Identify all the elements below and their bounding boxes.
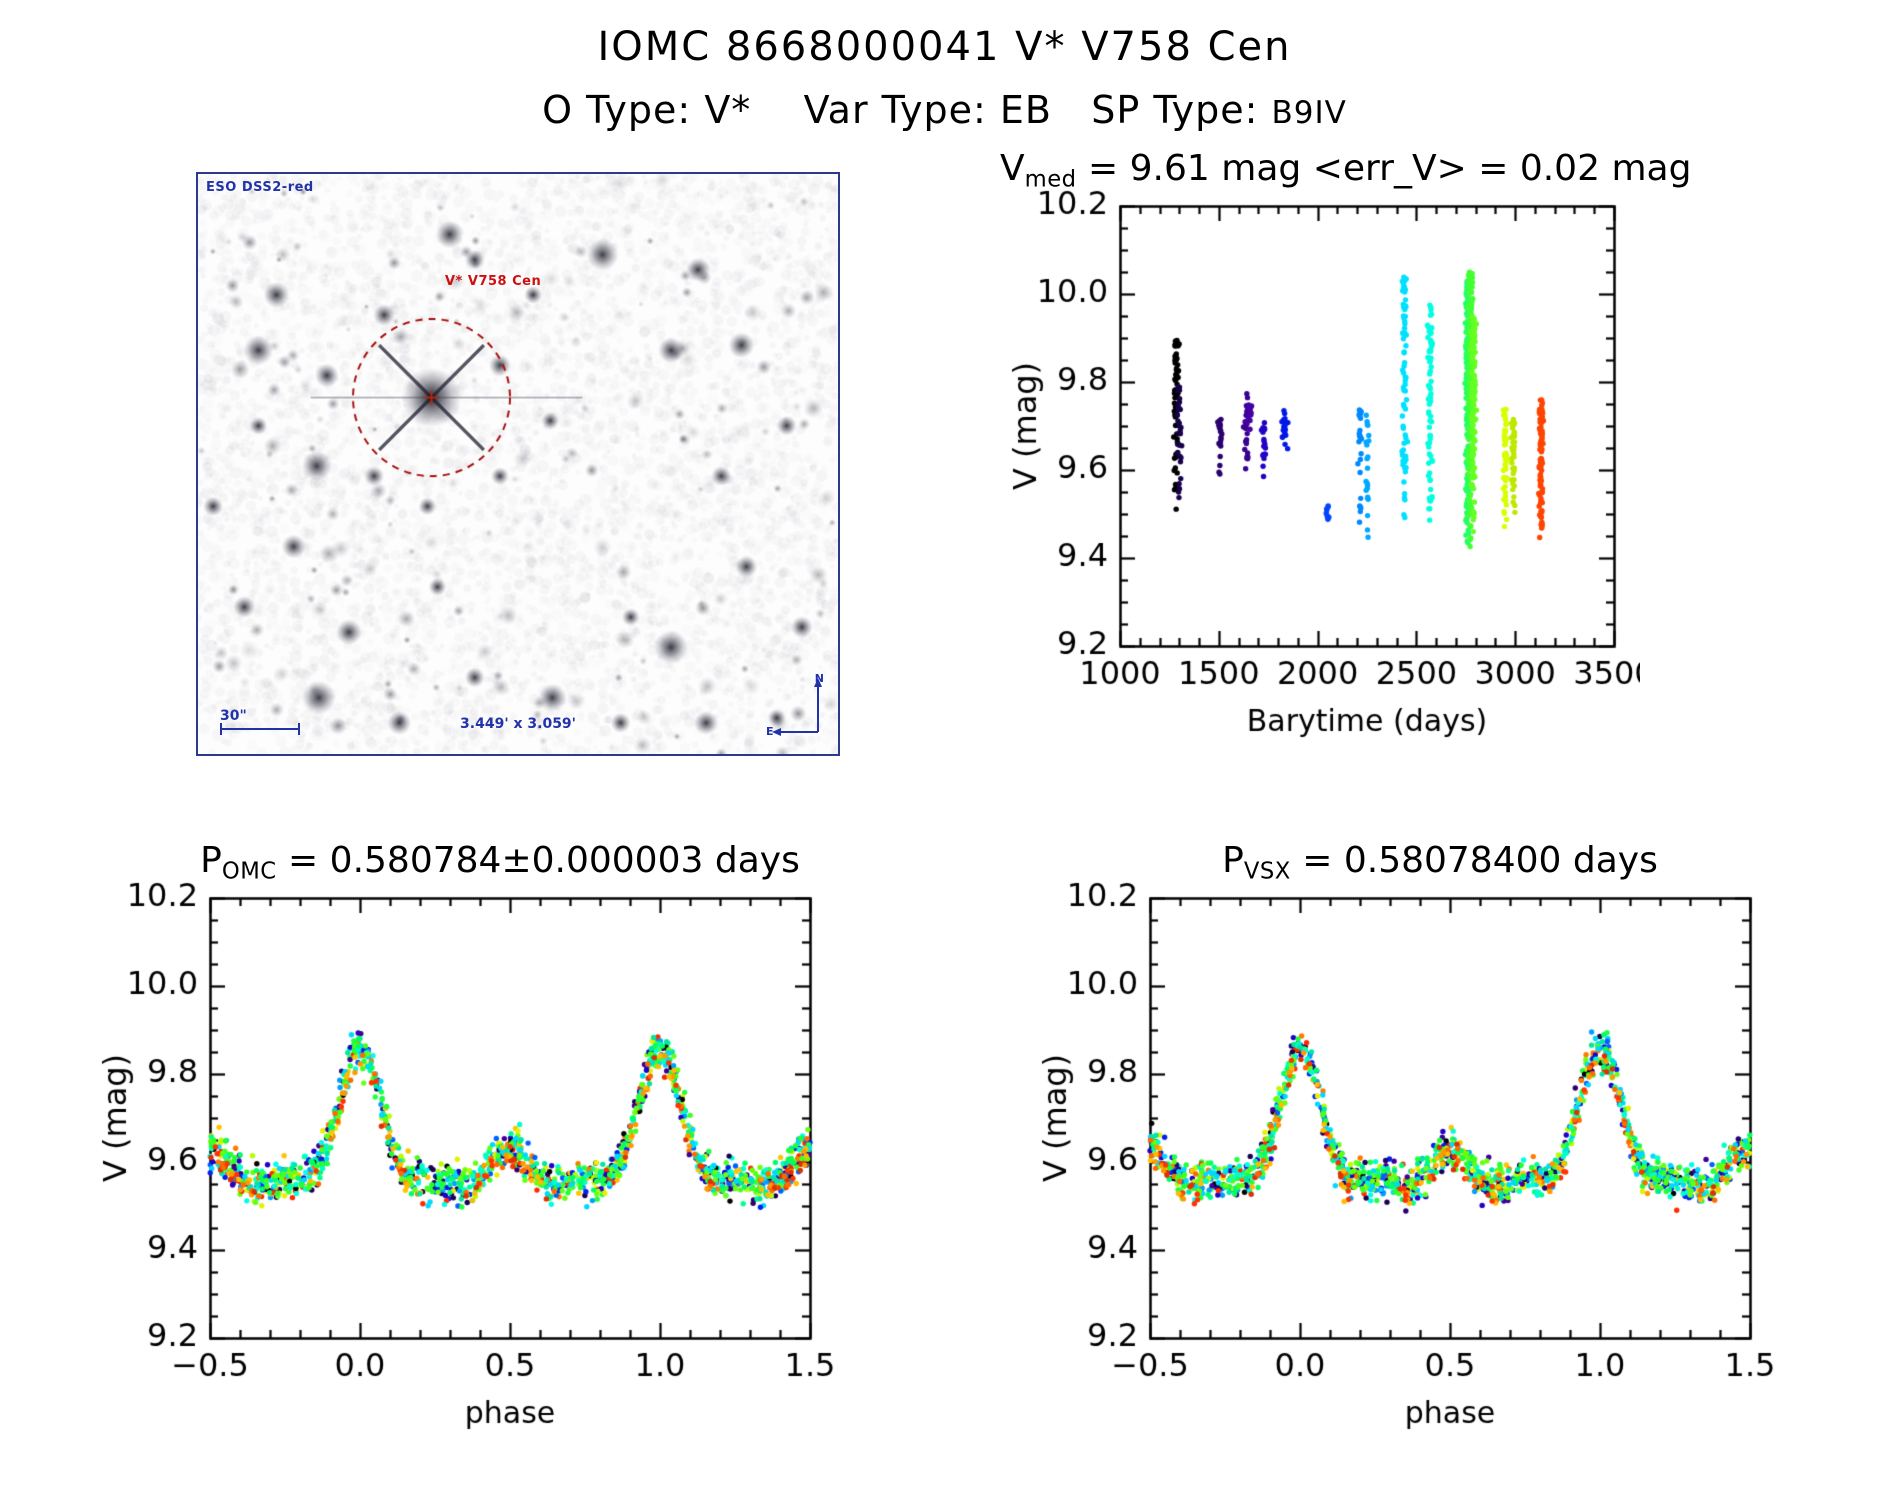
figure-page: IOMC 8668000041 V* V758 Cen O Type: V* V… (0, 0, 1889, 1494)
lightcurve-time-plot-area (1000, 148, 1640, 788)
vartype-label: Var Type: (804, 88, 987, 132)
object-classification-subtitle: O Type: V* Var Type: EB SP Type: B9IV (0, 88, 1889, 132)
otype-label: O Type: (542, 88, 691, 132)
finder-chart: ESO DSS2-red V* V758 Cen 30" 3.449' x 3.… (196, 172, 840, 756)
sky-survey-image (198, 174, 838, 754)
vartype-value: EB (1000, 88, 1052, 132)
field-size-label: 3.449' x 3.059' (460, 716, 576, 732)
sptype-label: SP Type: (1091, 88, 1258, 132)
phase-vsx-panel: PVSX = 0.58078400 days (1000, 840, 1880, 1480)
target-star-label: V* V758 Cen (445, 274, 541, 289)
scale-bar (220, 728, 300, 730)
survey-label: ESO DSS2-red (206, 180, 314, 195)
compass-north-label: N (815, 672, 824, 685)
lightcurve-time-panel: Vmed = 9.61 mag <err_V> = 0.02 mag (1000, 148, 1640, 788)
otype-value: V* (704, 88, 751, 132)
sptype-value: B9IV (1272, 95, 1347, 131)
phase-vsx-plot-area (1000, 840, 1880, 1480)
phase-omc-plot-area (60, 840, 940, 1480)
scale-bar-label: 30" (220, 708, 247, 724)
compass-east-label: E (766, 725, 774, 738)
page-title: IOMC 8668000041 V* V758 Cen (0, 24, 1889, 70)
compass-rose: N E (768, 674, 824, 736)
phase-omc-panel: POMC = 0.580784±0.000003 days (60, 840, 940, 1480)
